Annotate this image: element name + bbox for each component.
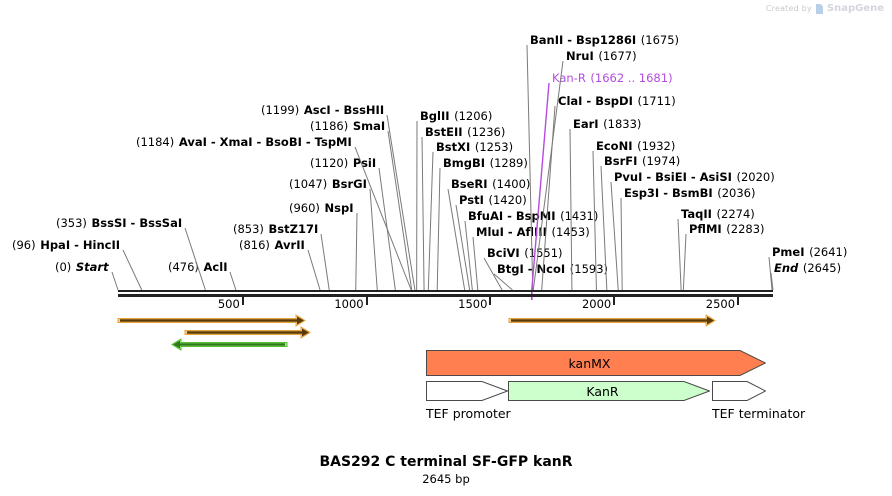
leader-line-avrii: [308, 250, 320, 290]
page-title: BAS292 C terminal SF-GFP kanR: [0, 454, 892, 470]
feature-label-kanmx: kanMX: [426, 356, 753, 371]
leader-line-bfuai: [465, 221, 472, 290]
leader-line-bstz17i: [321, 234, 329, 290]
leader-line-pflmi: [683, 234, 686, 290]
feature-caption-tefp: TEF promoter: [426, 406, 511, 421]
orf-arrow-core: [120, 319, 297, 321]
ruler-tick-1500: [489, 297, 491, 305]
ruler-tick-500: [242, 297, 244, 305]
leader-line-pvui: [611, 182, 618, 290]
leader-line-start: [112, 272, 118, 290]
leader-line-taqii: [678, 219, 681, 290]
leader-line-ban2: [527, 45, 533, 290]
ruler-label-2000: 2000: [582, 297, 613, 311]
leader-line-bsrfi: [601, 166, 607, 290]
feature-teft[interactable]: [712, 381, 766, 401]
feature-caption-teft: TEF terminator: [712, 406, 805, 421]
leader-line-acli: [230, 272, 236, 290]
feature-kanr[interactable]: KanR: [508, 381, 710, 401]
backbone-top-strand: [118, 290, 773, 292]
ruler-label-1500: 1500: [458, 297, 489, 311]
leader-line-bsssi: [185, 228, 205, 290]
plasmid-map: Created by SnapGene BanII - Bsp1286I (16…: [0, 0, 892, 496]
feature-arrows: kanMXTEF promoterKanRTEF terminator: [0, 344, 892, 416]
ruler-tick-2000: [613, 297, 615, 305]
orf-arrow-core: [187, 331, 302, 333]
page-subtitle: 2645 bp: [0, 472, 892, 486]
leader-line-eari: [570, 129, 572, 290]
leader-line-btgi: [494, 274, 512, 290]
ruler-label-1000: 1000: [334, 297, 365, 311]
leader-line-psii: [379, 168, 395, 290]
leader-line-bcivi: [484, 258, 502, 290]
sequence-backbone[interactable]: [118, 290, 773, 297]
feature-label-kanr: KanR: [508, 384, 697, 399]
leader-line-smai: [388, 131, 412, 290]
leader-line-bstxi: [428, 152, 433, 290]
leader-line-bmgbi: [437, 168, 440, 290]
ruler-label-2500: 2500: [706, 297, 737, 311]
orf-arrow-4[interactable]: [509, 315, 715, 326]
leader-line-econi: [593, 151, 596, 290]
leader-line-mlui: [473, 237, 478, 290]
ruler-tick-1000: [366, 297, 368, 305]
orf-arrow-2[interactable]: [185, 327, 310, 338]
feature-tefp[interactable]: [426, 381, 508, 401]
orf-arrow-1[interactable]: [118, 315, 305, 326]
orf-arrow-core: [511, 319, 707, 321]
leader-line-clai: [542, 106, 555, 290]
leader-line-nspi: [356, 213, 357, 290]
leader-lines: [0, 0, 892, 300]
leader-line-bsteii: [422, 137, 424, 290]
ruler-label-500: 500: [218, 297, 242, 311]
ruler-tick-2500: [737, 297, 739, 305]
leader-line-bsrgi: [370, 189, 377, 290]
feature-kanmx[interactable]: kanMX: [426, 350, 766, 376]
feature-arrow-shape: [427, 382, 508, 401]
leader-line-avai: [355, 147, 411, 290]
leader-line-esp3i: [621, 198, 622, 290]
leader-line-bseri: [448, 189, 465, 290]
leader-line-hpai: [123, 250, 142, 290]
sequence-ruler: 5001000150020002500: [118, 297, 773, 315]
feature-arrow-shape: [713, 382, 766, 401]
